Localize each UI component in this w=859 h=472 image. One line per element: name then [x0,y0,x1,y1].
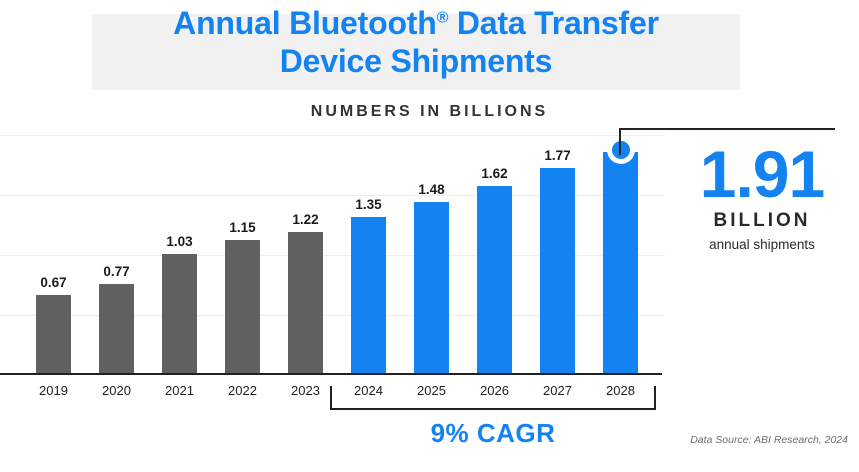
callout-value: 1.91 [672,140,852,208]
bar-slot-2024: 1.35 [337,130,400,373]
callout-unit: BILLION [672,210,852,232]
bar-2019 [36,295,71,373]
bar-value-label-2027: 1.77 [522,148,593,163]
bar-value-label-2022: 1.15 [207,220,278,235]
forecast-bracket [330,386,656,410]
x-tick-2019: 2019 [22,383,85,398]
cagr-label: 9% CAGR [330,418,656,449]
bar-value-label-2026: 1.62 [459,166,530,181]
callout-leader-line-horizontal [619,128,835,130]
page-title: Annual Bluetooth® Data Transfer Device S… [92,4,740,80]
bar-value-label-2021: 1.03 [144,234,215,249]
title-line-1-tail: Data Transfer [448,5,659,41]
chart-subtitle: NUMBERS IN BILLIONS [0,103,859,121]
bar-slot-2019: 0.67 [22,130,85,373]
bar-value-label-2025: 1.48 [396,182,467,197]
bar-value-label-2020: 0.77 [81,264,152,279]
x-tick-2023: 2023 [274,383,337,398]
x-tick-2022: 2022 [211,383,274,398]
bar-2023 [288,232,323,373]
bar-slot-2027: 1.77 [526,130,589,373]
bar-slot-2028 [589,130,652,373]
data-source-note: Data Source: ABI Research, 2024 [640,434,848,446]
bar-2024 [351,217,386,373]
bar-2021 [162,254,197,373]
chart-plot-area: 0.670.771.031.151.221.351.481.621.77 [0,130,665,378]
bar-slot-2020: 0.77 [85,130,148,373]
bar-slot-2023: 1.22 [274,130,337,373]
registered-trademark-icon: ® [437,9,449,26]
bar-2022 [225,240,260,373]
title-line-1-head: Annual Bluetooth [173,5,436,41]
bar-2027 [540,168,575,373]
highlight-callout: 1.91 BILLION annual shipments [672,140,852,252]
bar-slot-2026: 1.62 [463,130,526,373]
x-tick-2021: 2021 [148,383,211,398]
x-axis-line [0,373,662,375]
bar-2026 [477,186,512,373]
bar-slot-2025: 1.48 [400,130,463,373]
infographic-root: Annual Bluetooth® Data Transfer Device S… [0,0,859,472]
bar-group: 0.670.771.031.151.221.351.481.621.77 [0,130,665,373]
callout-subtext: annual shipments [672,237,852,252]
callout-leader-line-vertical [619,128,621,155]
bar-2025 [414,202,449,373]
bar-slot-2021: 1.03 [148,130,211,373]
bar-2028 [603,152,638,373]
bar-value-label-2019: 0.67 [18,275,89,290]
highlight-marker-dot-icon [607,136,635,164]
bar-slot-2022: 1.15 [211,130,274,373]
title-line-2: Device Shipments [280,43,552,79]
x-tick-2020: 2020 [85,383,148,398]
bar-value-label-2023: 1.22 [270,212,341,227]
bar-2020 [99,284,134,373]
bar-value-label-2024: 1.35 [333,197,404,212]
